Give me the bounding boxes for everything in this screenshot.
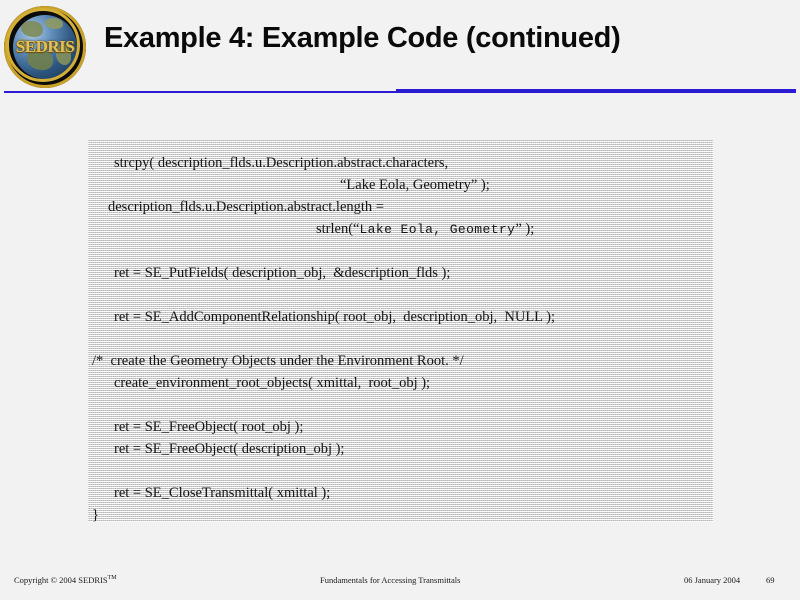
slide-canvas: SEDRIS Example 4: Example Code (continue…: [0, 0, 800, 600]
code-line: strlen(“Lake Eola, Geometry” );: [88, 218, 713, 240]
slide-header: SEDRIS Example 4: Example Code (continue…: [0, 0, 800, 100]
code-line: strcpy( description_flds.u.Description.a…: [88, 152, 713, 174]
logo-wordmark: SEDRIS: [4, 38, 86, 55]
code-string-literal: Lake Eola, Geometry: [359, 222, 515, 237]
code-line: ret = SE_PutFields( description_obj, &de…: [88, 262, 713, 284]
footer-copyright-text: Copyright © 2004 SEDRIS: [14, 575, 108, 585]
page-title: Example 4: Example Code (continued): [104, 22, 784, 55]
code-token: ” );: [515, 221, 534, 237]
header-rule-left: [4, 91, 396, 93]
code-line-blank: [88, 460, 713, 482]
footer-copyright: Copyright © 2004 SEDRISTM: [14, 575, 117, 585]
code-line-blank: [88, 328, 713, 350]
code-line: create_environment_root_objects( xmittal…: [88, 372, 713, 394]
footer-page-number: 69: [766, 575, 775, 585]
code-line: ret = SE_FreeObject( root_obj );: [88, 416, 713, 438]
slide-footer: Copyright © 2004 SEDRISTM Fundamentals f…: [0, 565, 800, 600]
footer-trademark: TM: [108, 575, 117, 581]
code-line: ret = SE_FreeObject( description_obj );: [88, 438, 713, 460]
code-line-blank: [88, 394, 713, 416]
code-line: “Lake Eola, Geometry” );: [88, 174, 713, 196]
code-line: description_flds.u.Description.abstract.…: [88, 196, 713, 218]
footer-date: 06 January 2004: [684, 575, 740, 585]
header-rule-right: [396, 89, 796, 93]
code-line: }: [88, 504, 713, 522]
code-line-blank: [88, 284, 713, 306]
code-line-blank: [88, 240, 713, 262]
code-line: /* create the Geometry Objects under the…: [88, 350, 713, 372]
sedris-globe-logo-icon: SEDRIS: [4, 6, 86, 88]
code-listing: strcpy( description_flds.u.Description.a…: [88, 140, 713, 522]
footer-course-title: Fundamentals for Accessing Transmittals: [320, 575, 460, 585]
code-token: strlen(“: [316, 221, 359, 237]
code-line: ret = SE_AddComponentRelationship( root_…: [88, 306, 713, 328]
code-line: ret = SE_CloseTransmittal( xmittal );: [88, 482, 713, 504]
